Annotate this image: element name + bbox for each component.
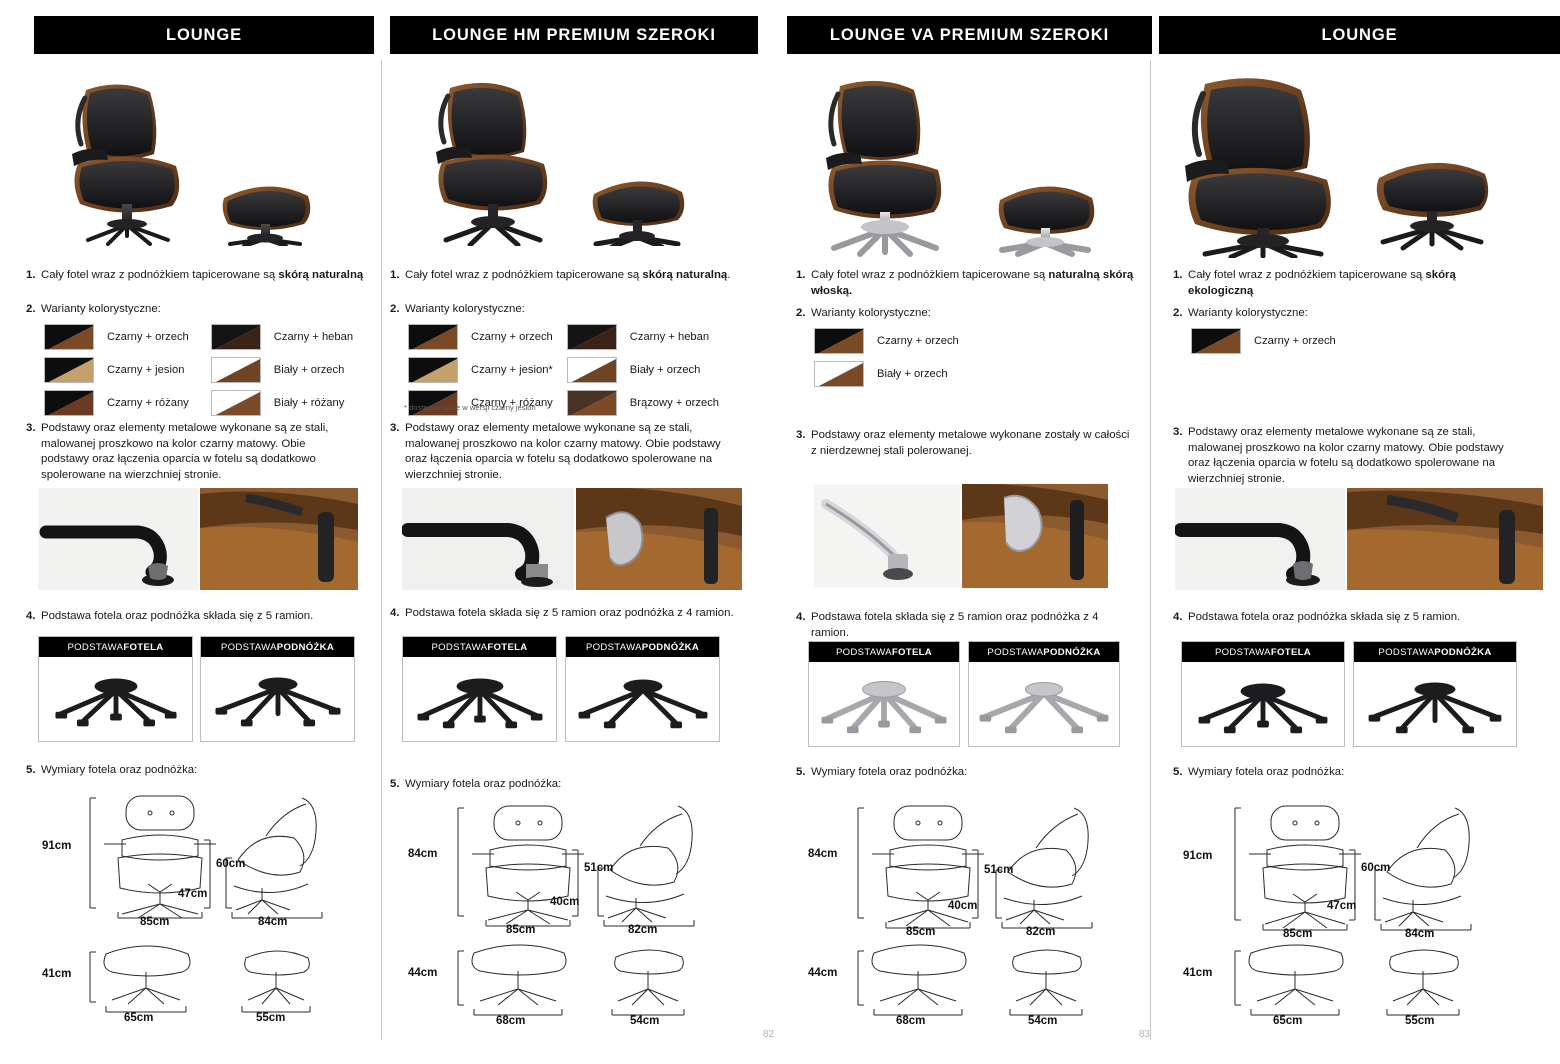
color-swatch-item: Biały + orzech — [211, 357, 353, 383]
dimension-ottoman-width: 68cm — [896, 1015, 925, 1027]
spec-item-4-number: 4. — [796, 610, 811, 641]
dimension-ottoman-depth: 54cm — [1028, 1015, 1057, 1027]
spec-item-2: 2. Warianty kolorystyczne: — [1173, 306, 1513, 322]
dimension-chair-height: 91cm — [1183, 850, 1212, 862]
page-number-right: 83 — [782, 1029, 1160, 1040]
color-swatch-label: Brązowy + orzech — [630, 397, 719, 409]
dimension-ottoman-width: 68cm — [496, 1015, 525, 1027]
base-diagram-ottoman-caption: PODSTAWA PODNÓŻKA — [201, 637, 354, 657]
dimension-chair-height: 91cm — [42, 840, 71, 852]
spec-item-1: 1. Cały fotel wraz z podnóżkiem tapicero… — [390, 268, 735, 284]
product-photo-chair-and-ottoman — [28, 68, 358, 246]
dimension-ottoman-height: 41cm — [42, 968, 71, 980]
color-swatch-item: Biały + orzech — [567, 357, 719, 383]
spec-item-3: 3. Podstawy oraz elementy metalowe wykon… — [26, 421, 356, 483]
spec-item-2-label: Warianty kolorystyczne: — [41, 302, 366, 318]
dimension-drawing-ottoman: 44cm 68cm 54cm — [394, 935, 744, 1035]
base-diagram-ottoman-caption: PODSTAWA PODNÓŻKA — [969, 642, 1119, 662]
color-swatch-chip — [408, 357, 458, 383]
spec-item-5-number: 5. — [1173, 765, 1188, 781]
color-swatch-grid: Czarny + orzech Czarny + jesion Czarny +… — [44, 324, 353, 423]
spec-item-5-text: Wymiary fotela oraz podnóżka: — [405, 777, 735, 793]
color-swatch-chip — [44, 390, 94, 416]
color-swatch-chip — [44, 324, 94, 350]
spec-item-4: 4. Podstawa fotela składa się z 5 ramion… — [796, 610, 1136, 641]
spec-item-2: 2. Warianty kolorystyczne: — [26, 302, 366, 318]
detail-photo-backrest-joint — [962, 484, 1108, 588]
color-swatch-column-right: Czarny + heban Biały + orzech Brązowy + … — [567, 324, 719, 423]
catalog-spread: LOUNGE — [0, 0, 1560, 1064]
spec-item-1: 1. Cały fotel wraz z podnóżkiem tapicero… — [1173, 268, 1513, 299]
spec-item-2-number: 2. — [796, 306, 811, 322]
base-diagram-ottoman-art — [1354, 662, 1516, 746]
page-right: LOUNGE VA PREMIUM SZEROKI — [782, 0, 1560, 1064]
spec-item-4: 4. Podstawa fotela oraz podnóżka składa … — [26, 609, 366, 625]
spec-item-3-number: 3. — [796, 428, 811, 459]
color-swatch-item: Czarny + orzech — [1191, 328, 1336, 354]
page-left: LOUNGE — [0, 0, 782, 1064]
color-swatch-label: Czarny + heban — [630, 331, 709, 343]
page-number-left: 82 — [382, 1029, 782, 1040]
column-header: LOUNGE VA PREMIUM SZEROKI — [787, 16, 1152, 54]
spec-item-4-number: 4. — [26, 609, 41, 625]
spec-item-5-number: 5. — [26, 763, 41, 779]
color-swatch-label: Czarny + orzech — [877, 335, 959, 347]
base-diagram-chair-art — [39, 657, 192, 741]
spec-item-5: 5. Wymiary fotela oraz podnóżka: — [796, 765, 1136, 781]
color-swatch-column-left: Czarny + orzech Czarny + jesion Czarny +… — [44, 324, 189, 423]
spec-item-1-number: 1. — [1173, 268, 1188, 299]
color-swatch-label: Czarny + heban — [274, 331, 353, 343]
base-diagram-chair-caption: PODSTAWA FOTELA — [39, 637, 192, 657]
spec-item-5: 5. Wymiary fotela oraz podnóżka: — [390, 777, 735, 793]
base-diagram-ottoman: PODSTAWA PODNÓŻKA — [1353, 641, 1517, 747]
color-swatch-item: Czarny + heban — [567, 324, 719, 350]
base-diagram-ottoman: PODSTAWA PODNÓŻKA — [565, 636, 720, 742]
color-swatch-item: Czarny + heban — [211, 324, 353, 350]
color-swatch-label: Biały + orzech — [274, 364, 345, 376]
column-header: LOUNGE — [1159, 16, 1560, 54]
spec-item-2-number: 2. — [26, 302, 41, 318]
base-diagram-ottoman-art — [969, 662, 1119, 746]
color-swatch-chip — [814, 361, 864, 387]
color-swatch-label: Czarny + orzech — [1254, 335, 1336, 347]
spec-item-2-number: 2. — [1173, 306, 1188, 322]
color-swatch-item: Brązowy + orzech — [567, 390, 719, 416]
dimension-chair-width: 85cm — [140, 916, 169, 928]
color-swatch-item: Czarny + orzech — [814, 328, 959, 354]
base-diagram-ottoman-art — [201, 657, 354, 741]
spec-item-3-text: Podstawy oraz elementy metalowe wykonane… — [1188, 425, 1513, 487]
base-diagram-chair-caption: PODSTAWA FOTELA — [809, 642, 959, 662]
dimension-ottoman-height: 44cm — [808, 967, 837, 979]
detail-photo-base-arm — [402, 488, 574, 590]
color-swatch-chip — [567, 357, 617, 383]
color-swatch-item: Biały + orzech — [814, 361, 959, 387]
dimension-chair-side-height: 51cm — [584, 862, 613, 874]
column-header: LOUNGE HM PREMIUM SZEROKI — [390, 16, 758, 54]
dimension-chair-side-height: 51cm — [984, 864, 1013, 876]
spec-item-4-number: 4. — [390, 606, 405, 622]
spec-item-5: 5. Wymiary fotela oraz podnóżka: — [26, 763, 366, 779]
dimension-ottoman-height: 41cm — [1183, 967, 1212, 979]
spec-item-3-number: 3. — [1173, 425, 1188, 487]
color-swatch-chip — [211, 390, 261, 416]
spec-item-1-text: Cały fotel wraz z podnóżkiem tapicerowan… — [41, 268, 366, 284]
column-header: LOUNGE — [34, 16, 374, 54]
color-swatch-label: Czarny + orzech — [471, 331, 553, 343]
color-swatch-chip — [44, 357, 94, 383]
spec-item-4-text: Podstawa fotela składa się z 5 ramion or… — [405, 606, 735, 622]
detail-photo-base-arm — [814, 484, 960, 588]
color-swatch-chip — [408, 324, 458, 350]
product-column-lounge-eko: LOUNGE — [1151, 0, 1560, 1064]
product-column-lounge-natural: LOUNGE — [0, 0, 382, 1064]
spec-item-4: 4. Podstawa fotela składa się z 5 ramion… — [390, 606, 735, 622]
color-swatch-label: Biały + różany — [274, 397, 345, 409]
spec-item-2-number: 2. — [390, 302, 405, 318]
spec-item-4-text: Podstawa fotela oraz podnóżka składa się… — [41, 609, 366, 625]
spec-item-3: 3. Podstawy oraz elementy metalowe wykon… — [1173, 425, 1513, 487]
color-swatch-chip — [1191, 328, 1241, 354]
detail-photo-backrest-joint — [576, 488, 742, 590]
dimension-ottoman-depth: 55cm — [1405, 1015, 1434, 1027]
spec-item-5-number: 5. — [796, 765, 811, 781]
color-swatch-chip — [567, 324, 617, 350]
base-diagram-chair-caption: PODSTAWA FOTELA — [403, 637, 556, 657]
spec-item-2: 2. Warianty kolorystyczne: — [796, 306, 1136, 322]
base-diagram-ottoman-caption: PODSTAWA PODNÓŻKA — [566, 637, 719, 657]
spec-item-2-label: Warianty kolorystyczne: — [1188, 306, 1513, 322]
product-photo-chair-and-ottoman — [398, 68, 728, 246]
dimension-drawing-chair: 84cm 85cm 51cm 40cm 82cm — [798, 798, 1148, 938]
color-swatch-column-right: Czarny + heban Biały + orzech Biały + ró… — [211, 324, 353, 423]
spec-item-1: 1. Cały fotel wraz z podnóżkiem tapicero… — [796, 268, 1136, 299]
color-swatch-label: Czarny + jesion — [107, 364, 184, 376]
dimension-ottoman-depth: 54cm — [630, 1015, 659, 1027]
spec-item-3: 3. Podstawy oraz elementy metalowe wykon… — [796, 428, 1136, 459]
dimension-drawing-chair: 91cm 85cm 60cm 47cm 84cm — [30, 788, 370, 928]
product-photo-chair-and-ottoman — [800, 68, 1140, 258]
color-swatch-label: Czarny + jesion* — [471, 364, 553, 376]
dimension-chair-height: 84cm — [408, 848, 437, 860]
spec-item-1-text: Cały fotel wraz z podnóżkiem tapicerowan… — [811, 268, 1136, 299]
spec-item-4: 4. Podstawa fotela oraz podnóżka składa … — [1173, 610, 1518, 626]
dimension-chair-seat-height: 40cm — [948, 900, 977, 912]
base-diagram-chair-caption: PODSTAWA FOTELA — [1182, 642, 1344, 662]
dimension-drawing-ottoman: 41cm 65cm 55cm — [30, 930, 370, 1030]
color-swatch-grid: Czarny + orzech Biały + orzech — [814, 328, 959, 394]
color-swatch-chip — [211, 357, 261, 383]
dimension-chair-depth: 84cm — [258, 916, 287, 928]
color-swatch-grid: Czarny + orzech — [1191, 328, 1336, 361]
base-diagram-chair: PODSTAWA FOTELA — [38, 636, 193, 742]
detail-photo-base-arm — [38, 488, 198, 590]
dimension-drawing-ottoman: 44cm 68cm 54cm — [798, 935, 1148, 1035]
dimension-chair-seat-height: 40cm — [550, 896, 579, 908]
dimension-ottoman-width: 65cm — [124, 1012, 153, 1024]
dimension-drawing-chair: 84cm 85cm 51cm 40cm 82cm — [394, 800, 744, 935]
spec-item-1-text: Cały fotel wraz z podnóżkiem tapicerowan… — [405, 268, 735, 284]
color-swatch-chip — [211, 324, 261, 350]
dimension-drawing-ottoman: 41cm 65cm 55cm — [1171, 935, 1531, 1035]
detail-photo-backrest-joint — [200, 488, 358, 590]
spec-item-5-number: 5. — [390, 777, 405, 793]
dimension-chair-side-height: 60cm — [216, 858, 245, 870]
color-swatch-chip — [814, 328, 864, 354]
dimension-chair-seat-height: 47cm — [178, 888, 207, 900]
spec-item-1-number: 1. — [26, 268, 41, 284]
spec-item-4-number: 4. — [1173, 610, 1188, 626]
dimension-ottoman-width: 65cm — [1273, 1015, 1302, 1027]
product-column-lounge-va-premium: LOUNGE VA PREMIUM SZEROKI — [782, 0, 1160, 1064]
base-diagram-ottoman-art — [566, 657, 719, 741]
spec-item-1-number: 1. — [796, 268, 811, 299]
color-swatch-item: Czarny + orzech — [408, 324, 553, 350]
dimension-ottoman-depth: 55cm — [256, 1012, 285, 1024]
color-swatch-label: Biały + orzech — [877, 368, 948, 380]
color-swatch-item: Czarny + orzech — [44, 324, 189, 350]
color-swatch-label: Biały + orzech — [630, 364, 701, 376]
dimension-chair-side-height: 60cm — [1361, 862, 1390, 874]
spec-item-3-text: Podstawy oraz elementy metalowe wykonane… — [405, 421, 725, 483]
color-swatch-label: Czarny + różany — [107, 397, 189, 409]
spec-item-3-number: 3. — [390, 421, 405, 483]
color-swatch-item: Biały + różany — [211, 390, 353, 416]
dimension-ottoman-height: 44cm — [408, 967, 437, 979]
product-photo-chair — [1163, 68, 1543, 258]
color-swatch-item: Czarny + różany — [44, 390, 189, 416]
spec-item-3-text: Podstawy oraz elementy metalowe wykonane… — [41, 421, 356, 483]
color-swatch-label: Czarny + orzech — [107, 331, 189, 343]
base-diagram-ottoman: PODSTAWA PODNÓŻKA — [968, 641, 1120, 747]
spec-item-4-text: Podstawa fotela oraz podnóżka składa się… — [1188, 610, 1518, 626]
spec-item-1-number: 1. — [390, 268, 405, 284]
spec-item-2: 2. Warianty kolorystyczne: — [390, 302, 735, 318]
swatch-footnote: * dostępny także w wersji czarny jesion — [404, 403, 536, 412]
dimension-drawing-chair: 91cm 85cm 60cm 47cm 84cm — [1171, 798, 1531, 938]
spec-item-5-text: Wymiary fotela oraz podnóżka: — [1188, 765, 1518, 781]
detail-photo-base-arm — [1175, 488, 1345, 590]
dimension-chair-height: 84cm — [808, 848, 837, 860]
base-diagram-chair: PODSTAWA FOTELA — [402, 636, 557, 742]
base-diagram-ottoman: PODSTAWA PODNÓŻKA — [200, 636, 355, 742]
spec-item-5-text: Wymiary fotela oraz podnóżka: — [41, 763, 366, 779]
spec-item-2-label: Warianty kolorystyczne: — [405, 302, 735, 318]
spec-item-5: 5. Wymiary fotela oraz podnóżka: — [1173, 765, 1518, 781]
color-swatch-chip — [567, 390, 617, 416]
color-swatch-item: Czarny + jesion — [44, 357, 189, 383]
spec-item-4-text: Podstawa fotela składa się z 5 ramion or… — [811, 610, 1136, 641]
base-diagram-chair-art — [809, 662, 959, 746]
spec-item-3: 3. Podstawy oraz elementy metalowe wykon… — [390, 421, 725, 483]
base-diagram-chair: PODSTAWA FOTELA — [1181, 641, 1345, 747]
base-diagram-chair-art — [1182, 662, 1344, 746]
spec-item-2-label: Warianty kolorystyczne: — [811, 306, 1136, 322]
color-swatch-item: Czarny + jesion* — [408, 357, 553, 383]
base-diagram-chair-art — [403, 657, 556, 741]
spec-item-1-text: Cały fotel wraz z podnóżkiem tapicerowan… — [1188, 268, 1513, 299]
spec-item-5-text: Wymiary fotela oraz podnóżka: — [811, 765, 1136, 781]
detail-photo-backrest-joint — [1347, 488, 1543, 590]
dimension-chair-seat-height: 47cm — [1327, 900, 1356, 912]
spec-item-3-text: Podstawy oraz elementy metalowe wykonane… — [811, 428, 1136, 459]
base-diagram-ottoman-caption: PODSTAWA PODNÓŻKA — [1354, 642, 1516, 662]
base-diagram-chair: PODSTAWA FOTELA — [808, 641, 960, 747]
spec-item-3-number: 3. — [26, 421, 41, 483]
spec-item-1: 1. Cały fotel wraz z podnóżkiem tapicero… — [26, 268, 366, 284]
product-column-lounge-hm-premium: LOUNGE HM PREMIUM SZEROKI — [382, 0, 782, 1064]
